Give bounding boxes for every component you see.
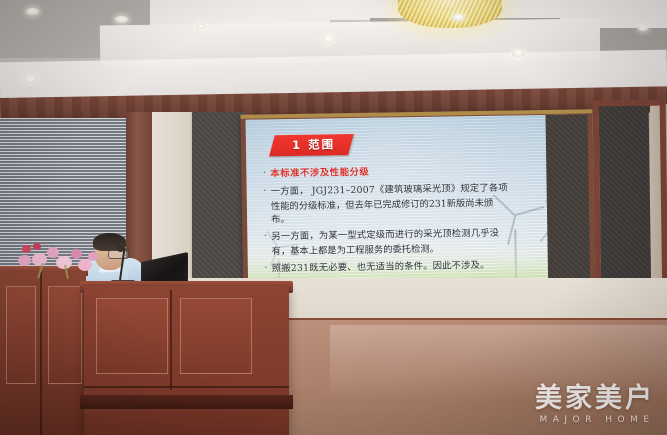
- watermark: 美家美户 MAJOR HOME: [535, 385, 655, 425]
- podium-panel: [96, 298, 168, 374]
- bullet-marker-icon: ·: [258, 167, 270, 180]
- dark-acoustic-panel-left: [190, 112, 244, 294]
- flower: [22, 245, 31, 253]
- bullet-marker-icon: ·: [259, 185, 271, 198]
- slide-bullet: · 照搬231既无必要、也无适当的条件。因此不涉及。: [260, 258, 560, 276]
- podium-base-plinth: [80, 395, 293, 409]
- ceiling-downlight: [322, 36, 335, 43]
- flower: [32, 253, 47, 266]
- flower: [78, 259, 92, 271]
- slide-bullet: · 本标准不涉及性能分级: [258, 163, 558, 181]
- side-podium: [0, 272, 86, 435]
- ceiling-downlight: [196, 24, 206, 29]
- ceiling-downlight: [452, 14, 465, 21]
- flower: [71, 249, 82, 259]
- ceiling-downlight: [26, 8, 39, 15]
- flower: [47, 247, 59, 258]
- slide-title-text: 1 范围: [292, 136, 335, 153]
- microphone-head: [117, 245, 124, 252]
- flower: [88, 252, 98, 261]
- bullet-marker-icon: ·: [259, 230, 271, 243]
- bullet-continuation: 有，基本上都是为工程服务的委托检测。: [260, 241, 560, 259]
- podium-panel: [6, 286, 36, 384]
- podium-seam: [40, 272, 42, 435]
- slide-title-banner: 1 范围: [269, 134, 354, 156]
- main-podium: [84, 286, 289, 435]
- podium-seam: [170, 290, 172, 390]
- podium-seam: [84, 386, 289, 388]
- podium-panel: [180, 298, 252, 374]
- bullet-text: 本标准不涉及性能分级: [270, 163, 558, 181]
- slide-bullet-list: · 本标准不涉及性能分级 · 一方面， JGJ231–2007《建筑玻璃采光顶》…: [258, 163, 560, 278]
- flower: [33, 243, 41, 250]
- ceiling-downlight: [638, 26, 648, 31]
- flower: [18, 255, 31, 266]
- bullet-marker-icon: ·: [260, 262, 272, 275]
- podium-panel: [48, 286, 82, 384]
- ceiling-downlight: [512, 50, 525, 57]
- ceiling-downlight: [24, 76, 37, 83]
- watermark-chinese: 美家美户: [535, 385, 655, 412]
- photo-scene: 1 范围 · 本标准不涉及性能分级 · 一方面， JGJ231–2007《建筑玻…: [0, 0, 667, 435]
- ceiling-downlight: [115, 16, 128, 23]
- flower-arrangement: [16, 243, 100, 277]
- bullet-text: 照搬231既无必要、也无适当的条件。因此不涉及。: [272, 258, 560, 276]
- watermark-english: MAJOR HOME: [535, 415, 655, 425]
